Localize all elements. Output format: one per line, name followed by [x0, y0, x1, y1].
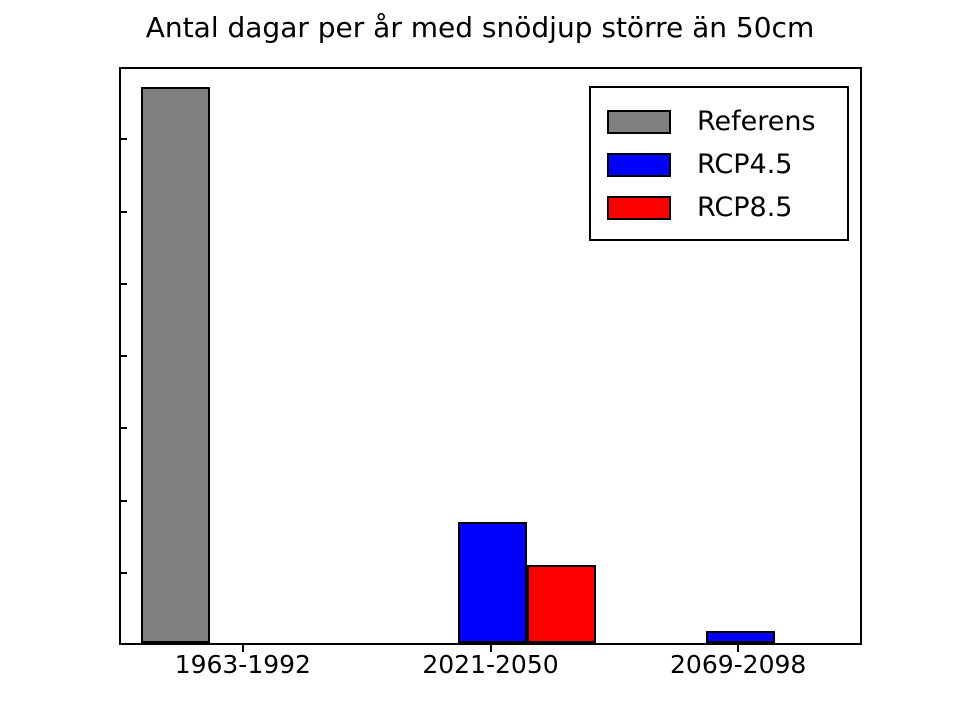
y-axis: 0510152025303540 [0, 0, 119, 720]
legend-swatch [607, 196, 671, 220]
y-axis-tick-mark [119, 283, 127, 285]
y-axis-tick-mark [119, 427, 127, 429]
legend-swatch [607, 110, 671, 134]
legend-item: RCP8.5 [607, 186, 833, 229]
y-axis-tick-mark [119, 138, 127, 140]
x-axis-tick-label: 1963-1992 [175, 650, 311, 680]
bar [706, 631, 775, 643]
legend-swatch [607, 153, 671, 177]
y-axis-tick-mark [119, 355, 127, 357]
legend-label: RCP8.5 [697, 194, 793, 221]
legend-label: Referens [697, 108, 816, 135]
legend-label: RCP4.5 [697, 151, 793, 178]
x-axis-tick-label: 2069-2098 [670, 650, 806, 680]
legend-item: RCP4.5 [607, 143, 833, 186]
legend-item: Referens [607, 100, 833, 143]
chart-legend: ReferensRCP4.5RCP8.5 [589, 86, 849, 241]
y-axis-tick-mark [119, 572, 127, 574]
y-axis-tick-mark [119, 500, 127, 502]
chart-title: Antal dagar per år med snödjup större än… [0, 10, 960, 46]
x-axis-tick-label: 2021-2050 [422, 650, 558, 680]
bar [527, 565, 596, 643]
chart-figure: Antal dagar per år med snödjup större än… [0, 0, 960, 720]
y-axis-tick-mark [119, 211, 127, 213]
bar [141, 87, 210, 643]
bar [458, 522, 527, 643]
